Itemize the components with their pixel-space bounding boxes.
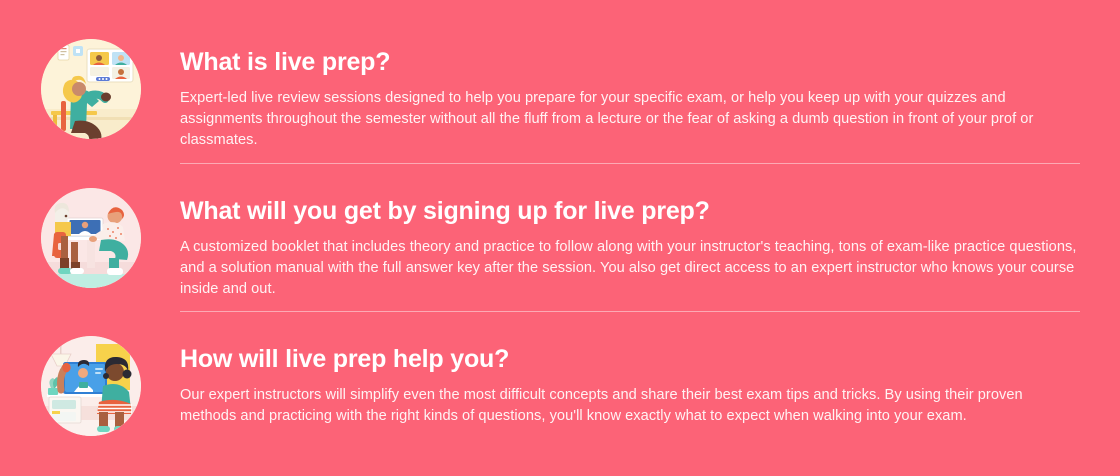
faq-title: What will you get by signing up for live… bbox=[180, 197, 1080, 226]
faq-item: How will live prep help you? Our expert … bbox=[0, 336, 1120, 436]
section-divider bbox=[180, 163, 1080, 164]
student-on-video-call-with-instructor-illustration bbox=[41, 336, 141, 436]
faq-illustration-container bbox=[0, 39, 180, 139]
two-students-at-desk-with-laptop-illustration bbox=[41, 188, 141, 288]
faq-illustration-container bbox=[0, 336, 180, 436]
faq-title: How will live prep help you? bbox=[180, 345, 1080, 374]
student-watching-live-video-lesson-illustration bbox=[41, 39, 141, 139]
faq-illustration-container bbox=[0, 188, 180, 288]
faq-text-block: What will you get by signing up for live… bbox=[180, 188, 1120, 300]
live-prep-faq-section: What is live prep? Expert-led live revie… bbox=[0, 0, 1120, 476]
faq-body: Expert-led live review sessions designed… bbox=[180, 88, 1080, 151]
faq-item: What will you get by signing up for live… bbox=[0, 188, 1120, 300]
section-divider bbox=[180, 311, 1080, 312]
faq-text-block: What is live prep? Expert-led live revie… bbox=[180, 39, 1120, 151]
faq-text-block: How will live prep help you? Our expert … bbox=[180, 336, 1120, 427]
faq-title: What is live prep? bbox=[180, 48, 1080, 77]
faq-body: A customized booklet that includes theor… bbox=[180, 237, 1080, 300]
faq-item: What is live prep? Expert-led live revie… bbox=[0, 39, 1120, 151]
faq-body: Our expert instructors will simplify eve… bbox=[180, 385, 1080, 427]
